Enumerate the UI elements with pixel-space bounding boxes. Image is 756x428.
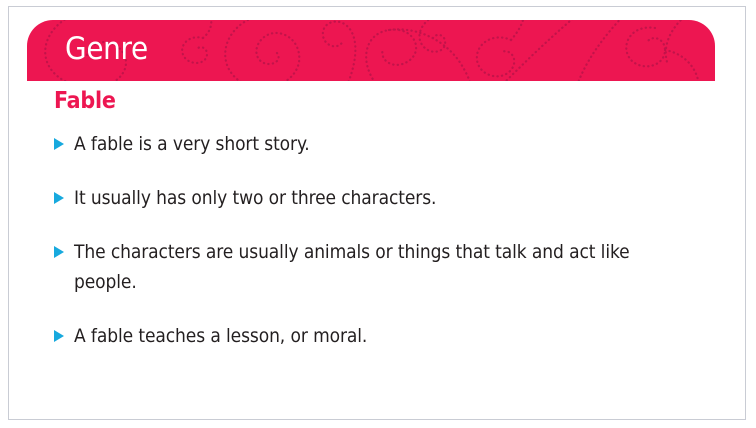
list-item: It usually has only two or three charact… (54, 183, 694, 213)
list-item-label: It usually has only two or three charact… (74, 183, 694, 213)
list-item: A fable is a very short story. (54, 129, 694, 159)
triangle-bullet-icon (54, 246, 64, 258)
list-item: A fable teaches a lesson, or moral. (54, 321, 694, 351)
list-item-label: A fable teaches a lesson, or moral. (74, 321, 694, 351)
fable-facts-list: A fable is a very short story. It usuall… (54, 129, 694, 351)
list-item-label: The characters are usually animals or th… (74, 237, 694, 297)
section-heading: Fable (54, 87, 694, 115)
list-item-label: A fable is a very short story. (74, 129, 694, 159)
triangle-bullet-icon (54, 330, 64, 342)
triangle-bullet-icon (54, 138, 64, 150)
slide-container: Genre Fable A fable is a very short stor… (8, 6, 746, 420)
genre-header-banner: Genre (27, 20, 715, 81)
page-title: Genre (65, 29, 148, 69)
list-item: The characters are usually animals or th… (54, 237, 694, 297)
triangle-bullet-icon (54, 192, 64, 204)
content-area: Fable A fable is a very short story. It … (54, 87, 694, 351)
